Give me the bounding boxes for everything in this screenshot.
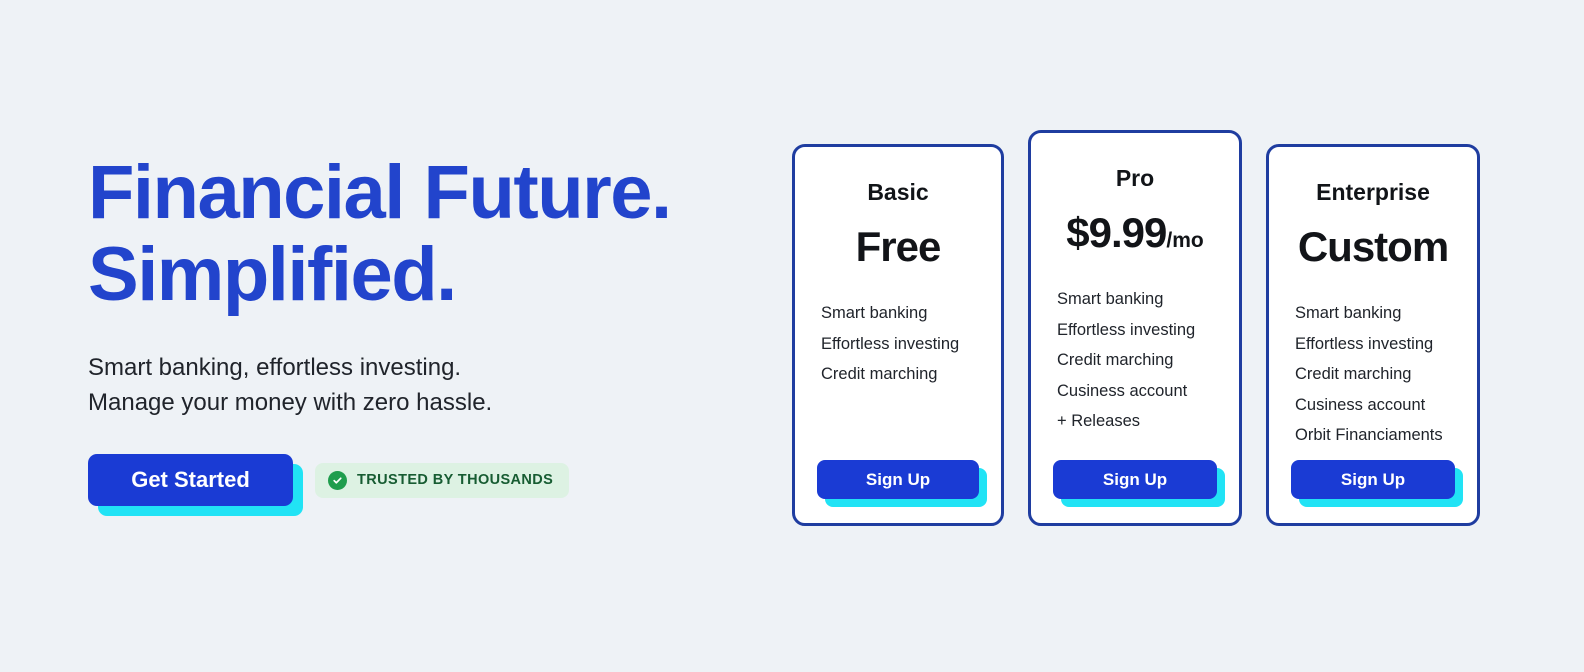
- hero-section: Financial Future. Simplified. Smart bank…: [88, 152, 748, 506]
- hero-actions: Get Started TRUSTED BY THOUSANDS: [88, 420, 748, 506]
- sign-up-button-wrapper: Sign Up: [1291, 460, 1455, 499]
- list-item: Orbit Financiaments: [1295, 420, 1455, 451]
- pricing-section: Basic Free Smart banking Effortless inve…: [792, 130, 1480, 526]
- list-item: Effortless investing: [1057, 315, 1217, 346]
- plan-price: Custom: [1291, 224, 1455, 278]
- sign-up-button-pro[interactable]: Sign Up: [1053, 460, 1217, 499]
- list-item: Smart banking: [1295, 298, 1455, 329]
- trusted-badge: TRUSTED BY THOUSANDS: [315, 463, 569, 498]
- plan-price: $9.99/mo: [1053, 210, 1217, 264]
- page-title-line-1: Financial Future.: [88, 152, 748, 234]
- plan-name: Enterprise: [1291, 179, 1455, 205]
- list-item: Credit marching: [821, 359, 979, 390]
- pricing-card-pro[interactable]: Pro $9.99/mo Smart banking Effortless in…: [1028, 130, 1242, 526]
- page-title: Financial Future. Simplified.: [88, 152, 748, 316]
- sign-up-button-wrapper: Sign Up: [1053, 460, 1217, 499]
- get-started-button-wrapper: Get Started: [88, 454, 293, 506]
- sign-up-button-basic[interactable]: Sign Up: [817, 460, 979, 499]
- plan-feature-list: Smart banking Effortless investing Credi…: [1053, 264, 1217, 460]
- list-item: Credit marching: [1057, 345, 1217, 376]
- list-item: Smart banking: [1057, 284, 1217, 315]
- list-item: + Releases: [1057, 406, 1217, 437]
- hero-subtitle: Smart banking, effortless investing. Man…: [88, 316, 748, 420]
- list-item: Effortless investing: [821, 329, 979, 360]
- get-started-button[interactable]: Get Started: [88, 454, 293, 506]
- landing-page: Financial Future. Simplified. Smart bank…: [0, 0, 1584, 672]
- list-item: Effortless investing: [1295, 329, 1455, 360]
- sign-up-button-wrapper: Sign Up: [817, 460, 979, 499]
- check-circle-icon: [328, 471, 347, 490]
- list-item: Cusiness account: [1295, 390, 1455, 421]
- page-title-line-2: Simplified.: [88, 234, 748, 316]
- list-item: Cusiness account: [1057, 376, 1217, 407]
- trusted-badge-label: TRUSTED BY THOUSANDS: [357, 472, 553, 488]
- plan-name: Basic: [817, 179, 979, 205]
- sign-up-button-enterprise[interactable]: Sign Up: [1291, 460, 1455, 499]
- pricing-card-enterprise[interactable]: Enterprise Custom Smart banking Effortle…: [1266, 144, 1480, 526]
- plan-price-period: /mo: [1166, 229, 1203, 252]
- plan-name: Pro: [1053, 165, 1217, 191]
- pricing-card-basic[interactable]: Basic Free Smart banking Effortless inve…: [792, 144, 1004, 526]
- plan-price-amount: Free: [856, 223, 941, 270]
- plan-price-amount: Custom: [1298, 223, 1448, 270]
- plan-feature-list: Smart banking Effortless investing Credi…: [1291, 278, 1455, 460]
- plan-price-amount: $9.99: [1066, 209, 1166, 256]
- plan-feature-list: Smart banking Effortless investing Credi…: [817, 278, 979, 460]
- hero-subtitle-line-1: Smart banking, effortless investing.: [88, 350, 748, 385]
- list-item: Smart banking: [821, 298, 979, 329]
- hero-subtitle-line-2: Manage your money with zero hassle.: [88, 385, 748, 420]
- list-item: Credit marching: [1295, 359, 1455, 390]
- plan-price: Free: [817, 224, 979, 278]
